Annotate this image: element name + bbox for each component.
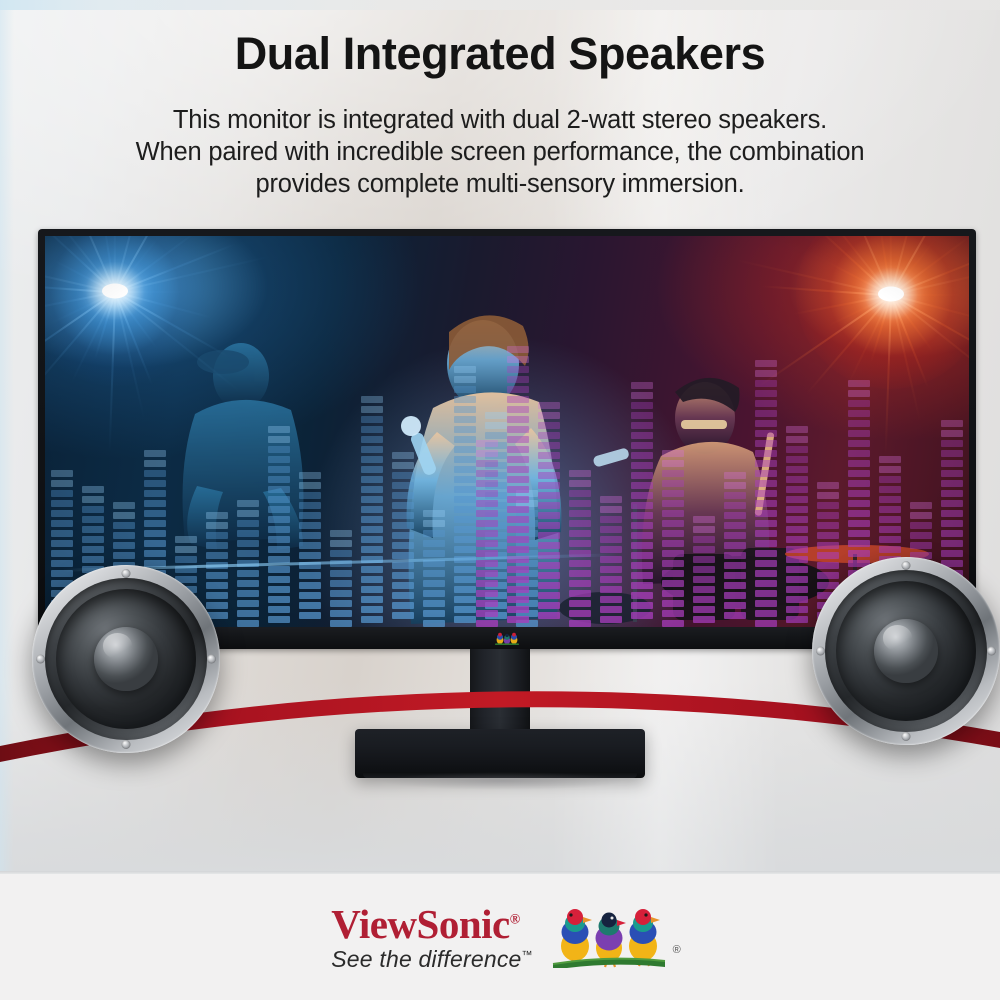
monitor-base-shadow	[330, 768, 675, 794]
page-root: Dual Integrated Speakers This monitor is…	[0, 0, 1000, 1000]
tagline-tm-mark: ™	[522, 949, 533, 961]
page-description: This monitor is integrated with dual 2-w…	[30, 104, 970, 200]
viewsonic-brand-logo: ViewSonic® See the difference™	[0, 874, 1000, 1000]
brand-tagline-text: See the difference	[331, 946, 521, 972]
left-speaker-dome	[94, 627, 158, 691]
hero-top-edge-tint	[0, 0, 1000, 10]
gouldian-finches-mascot: ®	[549, 906, 669, 968]
brand-lockup: ViewSonic® See the difference™	[331, 904, 533, 971]
right-speaker-dome	[874, 619, 938, 683]
right-speaker	[812, 557, 1000, 745]
page-title: Dual Integrated Speakers	[0, 28, 1000, 80]
right-speaker-screw-top	[902, 561, 911, 570]
brand-registered-mark: ®	[510, 912, 520, 927]
finches-registered-mark: ®	[673, 944, 681, 956]
right-speaker-screw-left	[816, 647, 825, 656]
description-line-2: When paired with incredible screen perfo…	[30, 136, 970, 168]
finches-icon	[549, 906, 669, 968]
right-speaker-screw-bottom	[902, 732, 911, 741]
left-speaker-screw-right	[207, 655, 216, 664]
description-line-1: This monitor is integrated with dual 2-w…	[30, 104, 970, 136]
description-line-3: provides complete multi-sensory immersio…	[30, 168, 970, 200]
right-speaker-screw-right	[987, 647, 996, 656]
left-speaker-screw-left	[36, 655, 45, 664]
left-speaker	[32, 565, 220, 753]
brand-tagline: See the difference™	[331, 948, 533, 971]
left-speaker-screw-top	[122, 569, 131, 578]
brand-name-text: ViewSonic	[331, 901, 509, 947]
left-speaker-screw-bottom	[122, 740, 131, 749]
brand-name: ViewSonic®	[331, 904, 533, 945]
